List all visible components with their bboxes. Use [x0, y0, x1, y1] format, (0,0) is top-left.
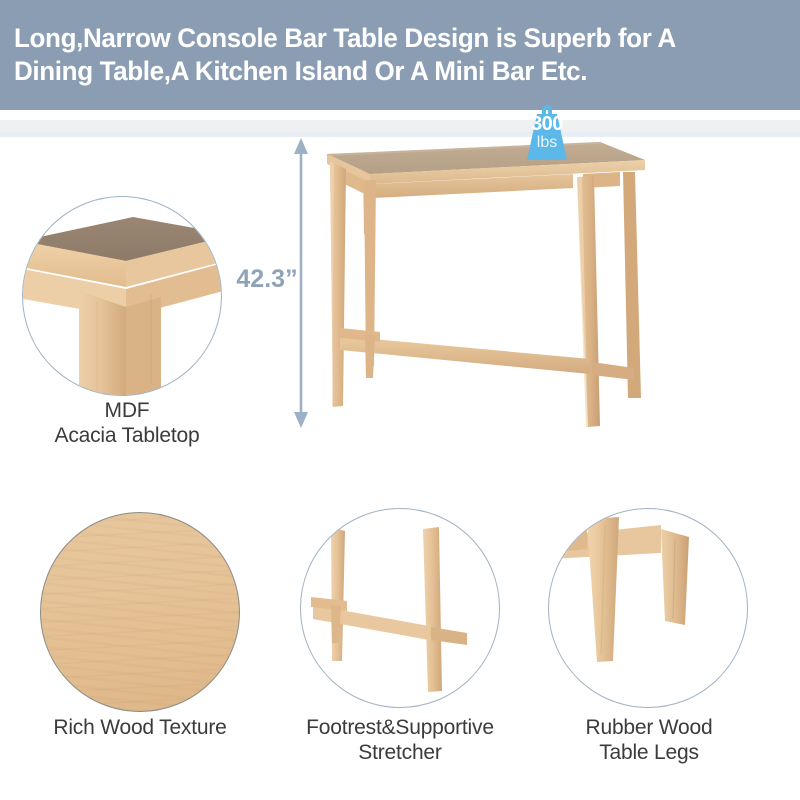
feature-circle-legs [548, 508, 748, 708]
stretcher-detail-image [301, 509, 500, 708]
table-leg-back-right [623, 172, 641, 398]
header-banner: Long,Narrow Console Bar Table Design is … [0, 0, 800, 110]
feature-caption-footrest: Footrest&Supportive Stretcher [268, 715, 532, 765]
header-line-1: Long,Narrow Console Bar Table Design is … [14, 22, 759, 55]
feature-circle-footrest [300, 508, 500, 708]
divider-gray [0, 120, 800, 132]
feature-circle-tabletop [22, 196, 222, 396]
table-corner-detail-image [22, 196, 222, 396]
header-line-2: Dining Table,A Kitchen Island Or A Mini … [14, 55, 759, 88]
feature-caption-tabletop-line1: MDF [2, 398, 252, 423]
height-dimension-label: 42.3” [232, 265, 302, 294]
weight-capacity-badge: 300 lbs [516, 100, 578, 162]
feature-caption-footrest-line2: Stretcher [268, 740, 532, 765]
feature-caption-tabletop: MDF Acacia Tabletop [2, 398, 252, 448]
infographic-page: Long,Narrow Console Bar Table Design is … [0, 0, 800, 800]
feature-caption-footrest-line1: Footrest&Supportive [268, 715, 532, 740]
product-illustration [300, 136, 670, 436]
table-leg-front-right [577, 176, 600, 427]
divider-white-1 [0, 110, 800, 120]
feature-caption-tabletop-line2: Acacia Tabletop [2, 423, 252, 448]
table-legs-detail-image [549, 509, 748, 708]
feature-caption-legs-line1: Rubber Wood [534, 715, 764, 740]
weight-value: 300 [516, 114, 578, 134]
feature-caption-legs: Rubber Wood Table Legs [534, 715, 764, 765]
feature-circle-wood-texture [40, 512, 240, 712]
feature-caption-legs-line2: Table Legs [534, 740, 764, 765]
table-leg-front-left [330, 162, 346, 407]
weight-unit: lbs [516, 135, 578, 151]
feature-caption-texture-line1: Rich Wood Texture [20, 715, 260, 740]
feature-caption-texture: Rich Wood Texture [20, 715, 260, 740]
